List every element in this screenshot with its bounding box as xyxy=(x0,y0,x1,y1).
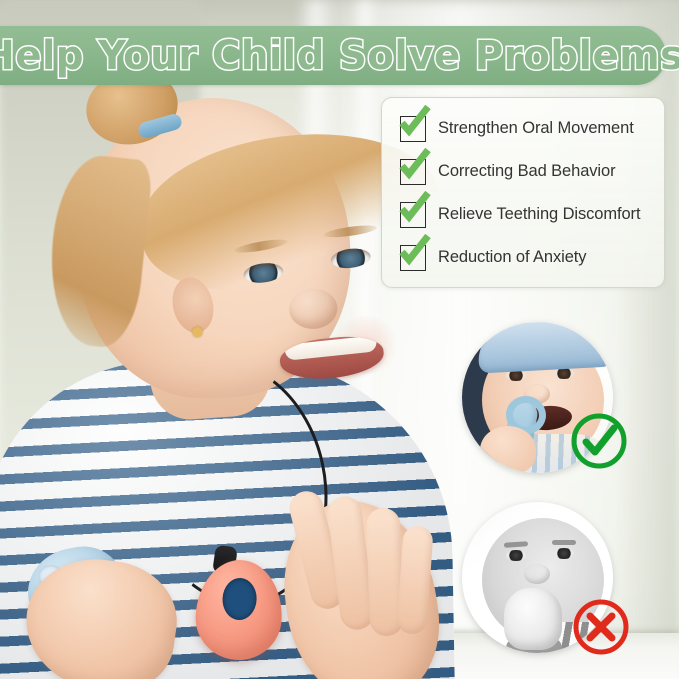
eye-left xyxy=(506,550,526,561)
checkbox-checked[interactable] xyxy=(400,116,426,142)
checkbox-checked[interactable] xyxy=(400,245,426,271)
check-icon xyxy=(397,105,431,139)
feature-label: Reduction of Anxiety xyxy=(438,248,586,267)
feature-label: Relieve Teething Discomfort xyxy=(438,205,640,224)
teeth xyxy=(284,335,377,361)
product-marketing-image: smiling toddler girl wearing navy and wh… xyxy=(0,0,679,679)
page-title: Help Your Child Solve Problems xyxy=(10,26,656,85)
header-banner: Help Your Child Solve Problems xyxy=(0,26,666,85)
feature-list-card: Strengthen Oral Movement Correcting Bad … xyxy=(381,97,665,288)
eye-right xyxy=(554,368,574,379)
cross-circle-icon xyxy=(572,598,630,656)
check-circle-icon xyxy=(570,412,628,470)
blue-cap xyxy=(477,322,613,373)
feature-item-reduction-of-anxiety: Reduction of Anxiety xyxy=(382,236,664,279)
checkbox-checked[interactable] xyxy=(400,202,426,228)
feature-label: Strengthen Oral Movement xyxy=(438,119,634,138)
check-icon xyxy=(397,148,431,182)
feature-item-correcting-bad-behavior: Correcting Bad Behavior xyxy=(382,150,664,193)
feature-item-strengthen-oral-movement: Strengthen Oral Movement xyxy=(382,107,664,150)
nose xyxy=(288,288,338,330)
eye-right xyxy=(554,548,574,559)
eyebrow-right xyxy=(552,540,576,545)
earring xyxy=(192,327,203,338)
baby-hand xyxy=(480,426,536,473)
feature-label: Correcting Bad Behavior xyxy=(438,162,615,181)
checkbox-checked[interactable] xyxy=(400,159,426,185)
baby-hand-in-mouth xyxy=(504,588,562,650)
feature-item-relieve-teething-discomfort: Relieve Teething Discomfort xyxy=(382,193,664,236)
nose xyxy=(524,564,550,584)
check-icon xyxy=(397,191,431,225)
check-icon xyxy=(397,234,431,268)
pendant-hole xyxy=(221,577,257,621)
